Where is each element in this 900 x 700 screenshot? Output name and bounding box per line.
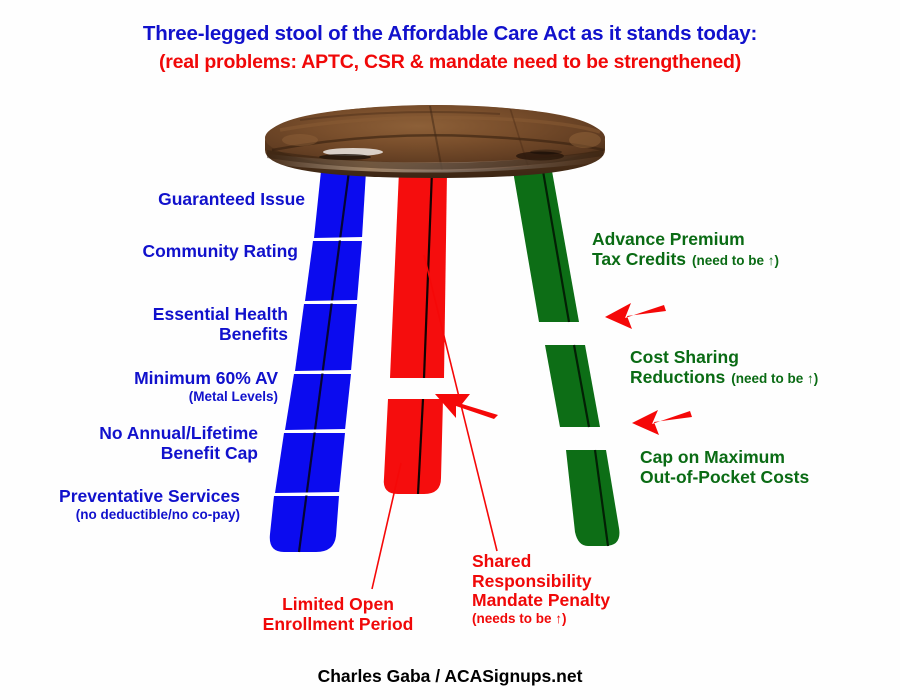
- arrow-mandate-break: [435, 394, 498, 419]
- label-cap-on-maximum-out-of-pocket: Cap on Maximum Out-of-Pocket Costs: [640, 448, 896, 487]
- label-community-rating: Community Rating: [20, 242, 298, 262]
- arrow-aptc-break: [605, 303, 666, 329]
- label-essential-health-benefits: Essential Health Benefits: [20, 305, 288, 344]
- label-minimum-av-line1: Minimum 60% AV: [20, 369, 278, 389]
- label-preventative-line1: Preventative Services: [0, 487, 240, 507]
- label-minimum-av: Minimum 60% AV (Metal Levels): [20, 369, 278, 404]
- label-mandate-note: (needs to be ↑): [472, 611, 702, 626]
- arrow-csr-break: [632, 410, 692, 435]
- label-minimum-av-note: (Metal Levels): [20, 389, 278, 404]
- label-no-annual-line2: Benefit Cap: [10, 444, 258, 464]
- label-aptc-line2-wrap: Tax Credits(need to be ↑): [592, 250, 892, 270]
- label-aptc-note: (need to be ↑): [692, 253, 779, 268]
- label-open-enrollment-line1: Limited Open: [228, 595, 448, 615]
- blue-leg: [270, 171, 366, 552]
- label-mandate-line2: Responsibility: [472, 572, 702, 592]
- label-moop-line1: Cap on Maximum: [640, 448, 896, 468]
- stool-seat: [265, 105, 605, 178]
- infographic-canvas: Three-legged stool of the Affordable Car…: [0, 0, 900, 700]
- label-no-annual-lifetime-cap: No Annual/Lifetime Benefit Cap: [10, 424, 258, 463]
- label-essential-health-line2: Benefits: [20, 325, 288, 345]
- label-preventative-note: (no deductible/no co-pay): [0, 507, 240, 522]
- green-leg: [513, 171, 619, 546]
- label-no-annual-line1: No Annual/Lifetime: [10, 424, 258, 444]
- label-shared-responsibility-mandate: Shared Responsibility Mandate Penalty (n…: [472, 552, 702, 626]
- label-guaranteed-issue: Guaranteed Issue: [20, 190, 305, 210]
- label-mandate-line3: Mandate Penalty: [472, 591, 702, 611]
- label-csr-note: (need to be ↑): [731, 371, 818, 386]
- label-cost-sharing-reductions: Cost Sharing Reductions(need to be ↑): [630, 348, 896, 387]
- label-guaranteed-issue-text: Guaranteed Issue: [20, 190, 305, 210]
- label-preventative-services: Preventative Services (no deductible/no …: [0, 487, 240, 522]
- label-advance-premium-tax-credits: Advance Premium Tax Credits(need to be ↑…: [592, 230, 892, 269]
- label-open-enrollment-line2: Enrollment Period: [228, 615, 448, 635]
- red-leg: [384, 171, 447, 494]
- label-aptc-line2: Tax Credits: [592, 249, 686, 269]
- label-essential-health-line1: Essential Health: [20, 305, 288, 325]
- label-mandate-line1: Shared: [472, 552, 702, 572]
- attribution: Charles Gaba / ACASignups.net: [0, 666, 900, 687]
- label-csr-line1: Cost Sharing: [630, 348, 896, 368]
- label-csr-line2: Reductions: [630, 367, 725, 387]
- label-limited-open-enrollment: Limited Open Enrollment Period: [228, 595, 448, 634]
- label-moop-line2: Out-of-Pocket Costs: [640, 468, 896, 488]
- label-csr-line2-wrap: Reductions(need to be ↑): [630, 368, 896, 388]
- label-aptc-line1: Advance Premium: [592, 230, 892, 250]
- label-community-rating-text: Community Rating: [20, 242, 298, 262]
